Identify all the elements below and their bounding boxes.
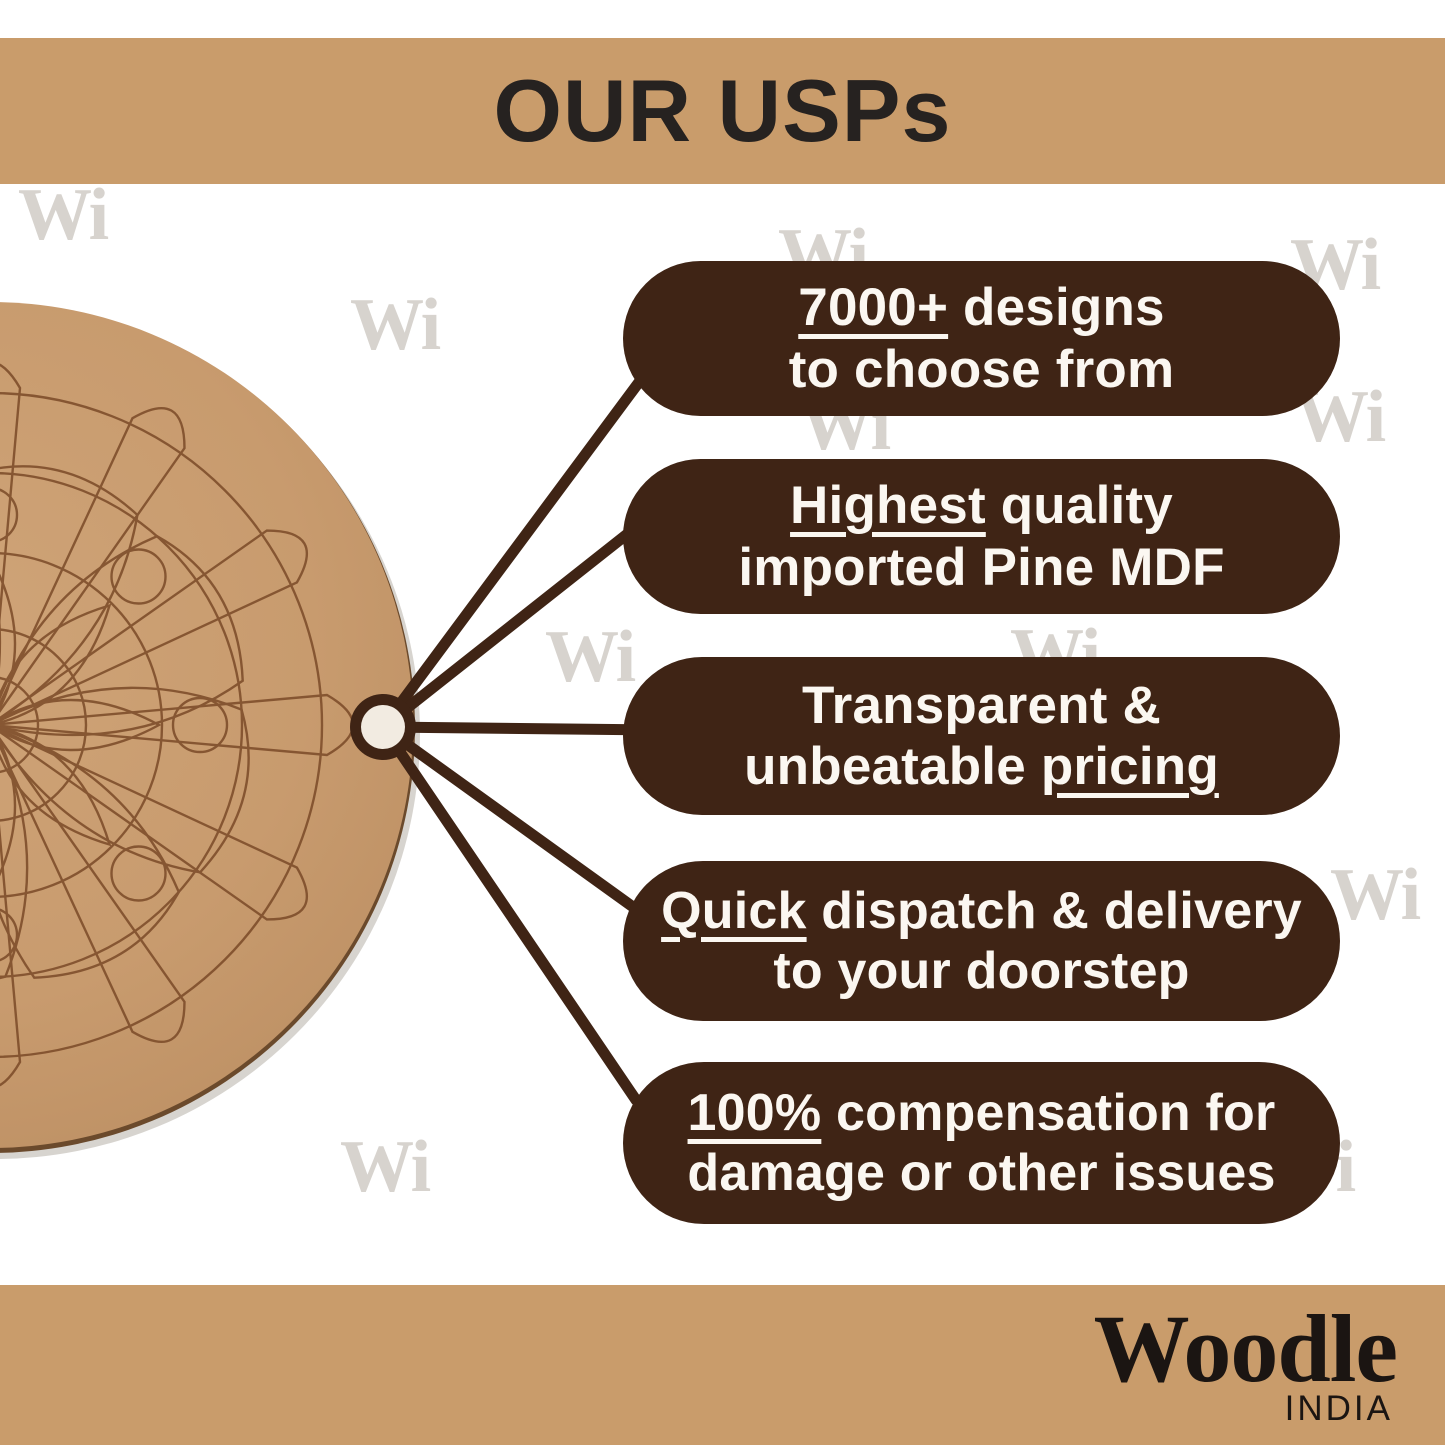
- usp-line-2: imported Pine MDF: [738, 537, 1224, 598]
- usp-infographic: Wi Wi Wi Wi Wi Wi Wi Wi Wi Wi Wi Wi: [0, 0, 1445, 1445]
- usp-highlight: Quick: [661, 882, 807, 940]
- mdf-mandala-disc: [0, 288, 450, 1243]
- usp-text: dispatch & delivery: [807, 882, 1302, 940]
- usp-card-quality[interactable]: Highest quality imported Pine MDF: [623, 459, 1340, 614]
- brand-name: Woodle: [1094, 1305, 1397, 1393]
- usp-card-pricing[interactable]: Transparent & unbeatable pricing: [623, 657, 1340, 815]
- usp-text: to choose from: [789, 340, 1175, 399]
- usp-text: designs: [948, 278, 1165, 337]
- usp-line-1: Transparent &: [802, 675, 1161, 736]
- brand-logo: Woodle INDIA: [1094, 1305, 1397, 1429]
- usp-highlight: 100%: [688, 1084, 822, 1142]
- usp-text: Transparent &: [802, 676, 1161, 735]
- watermark-wi: Wi: [18, 178, 107, 252]
- usp-card-compensation[interactable]: 100% compensation for damage or other is…: [623, 1062, 1340, 1224]
- usp-text: compensation for: [821, 1084, 1275, 1142]
- usp-text: imported Pine MDF: [738, 538, 1224, 597]
- usp-line-1: Quick dispatch & delivery: [661, 881, 1302, 941]
- usp-line-2: damage or other issues: [687, 1143, 1275, 1203]
- usp-text: damage or other issues: [687, 1144, 1275, 1202]
- usp-text: to your doorstep: [773, 942, 1189, 1000]
- usp-card-designs[interactable]: 7000+ designs to choose from: [623, 261, 1340, 416]
- usp-line-1: Highest quality: [790, 475, 1173, 536]
- page-title: OUR USPs: [0, 38, 1445, 184]
- watermark-wi: Wi: [545, 620, 634, 694]
- usp-highlight: pricing: [1041, 737, 1219, 796]
- usp-card-dispatch[interactable]: Quick dispatch & delivery to your doorst…: [623, 861, 1340, 1021]
- usp-highlight: Highest: [790, 476, 986, 535]
- usp-highlight: 7000+: [798, 278, 948, 337]
- watermark-wi: Wi: [1330, 858, 1419, 932]
- usp-line-1: 7000+ designs: [798, 277, 1164, 338]
- usp-line-1: 100% compensation for: [688, 1083, 1276, 1143]
- usp-text: unbeatable: [744, 737, 1041, 796]
- usp-text: quality: [986, 476, 1173, 535]
- usp-line-2: unbeatable pricing: [744, 736, 1219, 797]
- usp-line-2: to choose from: [789, 339, 1175, 400]
- usp-line-2: to your doorstep: [773, 941, 1189, 1001]
